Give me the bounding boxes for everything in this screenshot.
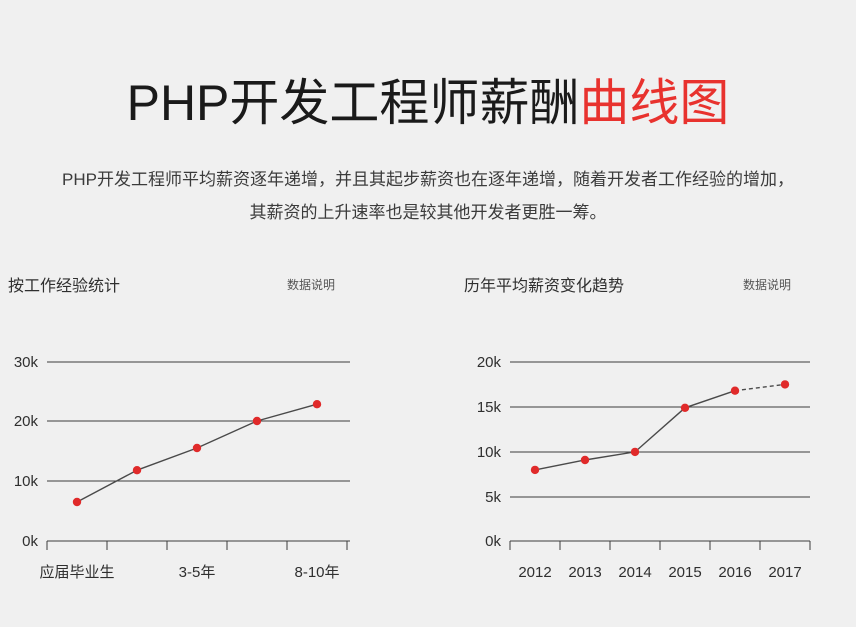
- x-category-label-2017: 2017: [768, 564, 801, 581]
- chart-left-series: [73, 400, 321, 506]
- page-title: PHP开发工程师薪酬曲线图: [0, 72, 856, 134]
- chart-right-y-axis-labels: 20k 15k 10k 5k 0k: [477, 354, 502, 550]
- data-point-2017[interactable]: [781, 380, 789, 388]
- page-root: PHP开发工程师薪酬曲线图 PHP开发工程师平均薪资逐年递增，并且其起步薪资也在…: [0, 0, 856, 627]
- chart-left-x-labels: 应届毕业生 3-5年 8-10年: [39, 563, 339, 581]
- chart-left-x-axis: [47, 541, 350, 550]
- chart-left-header: 按工作经验统计 数据说明: [0, 272, 420, 300]
- data-point-3-5年[interactable]: [193, 444, 201, 452]
- series-points-yearly: [531, 380, 789, 474]
- page-title-primary: PHP开发工程师薪酬: [127, 75, 580, 131]
- x-category-label-2013: 2013: [568, 564, 601, 581]
- chart-experience-salary: 按工作经验统计 数据说明 30k 20k 10k 0k: [0, 272, 420, 580]
- y-tick-label-0k: 0k: [485, 533, 501, 550]
- series-line-projected: [735, 384, 785, 390]
- x-category-label-2014: 2014: [618, 564, 651, 581]
- x-category-label-0: 应届毕业生: [39, 563, 114, 581]
- chart-yearly-average-salary: 历年平均薪资变化趋势 数据说明 20k 15k 10k 5k 0k: [440, 272, 856, 580]
- intro-paragraph: PHP开发工程师平均薪资逐年递增，并且其起步薪资也在逐年递增，随着开发者工作经验…: [8, 163, 848, 229]
- data-point-2016[interactable]: [731, 387, 739, 395]
- chart-right-series: [531, 380, 789, 474]
- x-category-label-2016: 2016: [718, 564, 751, 581]
- data-point-2015[interactable]: [681, 404, 689, 412]
- data-point-2014[interactable]: [631, 448, 639, 456]
- chart-left-gridlines: [47, 362, 350, 481]
- y-tick-label-20k: 20k: [14, 413, 39, 430]
- y-tick-label-5k: 5k: [485, 489, 501, 506]
- chart-left-data-note-link[interactable]: 数据说明: [287, 276, 335, 293]
- page-title-accent: 曲线图: [579, 75, 729, 131]
- data-point-8-10年[interactable]: [313, 400, 321, 408]
- series-line-salary: [77, 404, 317, 502]
- chart-left-plot-area: 30k 20k 10k 0k 应届毕业生: [0, 300, 420, 580]
- chart-left-y-axis-labels: 30k 20k 10k 0k: [14, 354, 39, 550]
- data-point-2012[interactable]: [531, 466, 539, 474]
- y-tick-label-0k: 0k: [22, 533, 38, 550]
- chart-right-data-note-link[interactable]: 数据说明: [743, 276, 791, 293]
- data-point-2013[interactable]: [581, 456, 589, 464]
- x-category-label-1: 3-5年: [179, 564, 216, 581]
- intro-line-1: PHP开发工程师平均薪资逐年递增，并且其起步薪资也在逐年递增，随着开发者工作经验…: [8, 163, 848, 196]
- chart-right-x-axis: [510, 541, 810, 550]
- y-tick-label-10k: 10k: [14, 473, 39, 490]
- x-category-label-2012: 2012: [518, 564, 551, 581]
- series-line-actual: [535, 391, 735, 470]
- x-category-label-2: 8-10年: [294, 564, 339, 581]
- y-tick-label-15k: 15k: [477, 399, 502, 416]
- data-point-1-2年[interactable]: [133, 466, 141, 474]
- chart-right-title: 历年平均薪资变化趋势: [464, 272, 624, 296]
- chart-left-title: 按工作经验统计: [8, 272, 120, 296]
- chart-right-plot-area: 20k 15k 10k 5k 0k: [440, 300, 856, 580]
- x-category-label-2015: 2015: [668, 564, 701, 581]
- series-points-salary: [73, 400, 321, 506]
- data-point-应届毕业生[interactable]: [73, 498, 81, 506]
- chart-right-svg: 20k 15k 10k 5k 0k: [440, 300, 856, 590]
- intro-line-2: 其薪资的上升速率也是较其他开发者更胜一筹。: [8, 196, 848, 229]
- chart-left-svg: 30k 20k 10k 0k 应届毕业生: [0, 300, 420, 590]
- y-tick-label-10k: 10k: [477, 444, 502, 461]
- y-tick-label-30k: 30k: [14, 354, 39, 371]
- chart-right-header: 历年平均薪资变化趋势 数据说明: [440, 272, 856, 300]
- chart-right-x-labels: 2012 2013 2014 2015 2016 2017: [518, 564, 801, 581]
- data-point-5-8年[interactable]: [253, 417, 261, 425]
- y-tick-label-20k: 20k: [477, 354, 502, 371]
